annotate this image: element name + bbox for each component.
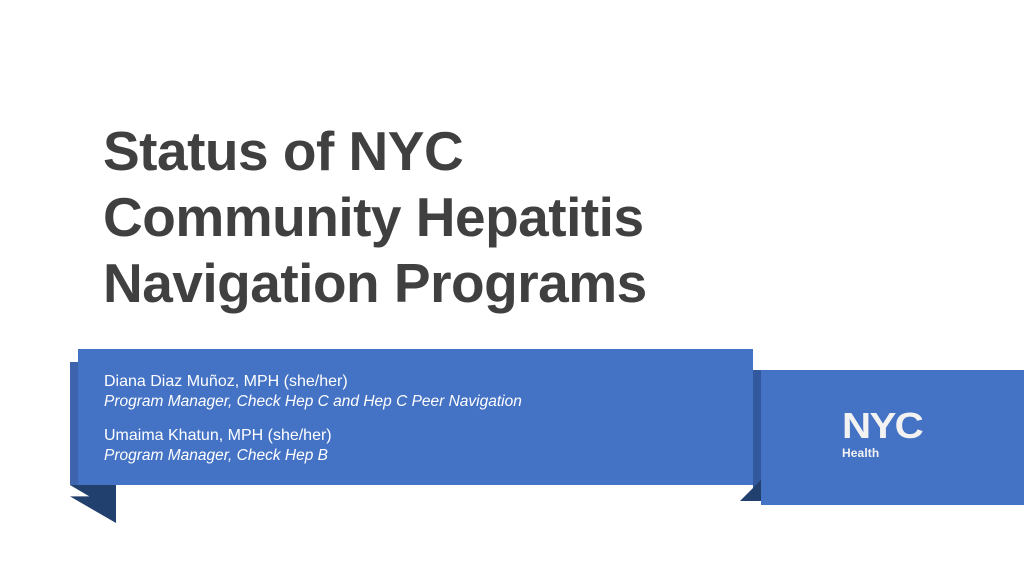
ribbon-tail-fold [70, 485, 116, 523]
presenter-name: Umaima Khatun, MPH (she/her) [104, 425, 724, 446]
nyc-health-logo-icon: NYC Health [842, 409, 962, 460]
presenter-name: Diana Diaz Muñoz, MPH (she/her) [104, 371, 724, 392]
page-title: Status of NYC Community Hepatitis Naviga… [103, 118, 743, 316]
presenter-role: Program Manager, Check Hep B [104, 446, 724, 466]
title-line-1: Status of NYC [103, 118, 743, 184]
title-line-2: Community Hepatitis [103, 184, 743, 250]
presenter-item: Umaima Khatun, MPH (she/her) Program Man… [104, 425, 724, 466]
title-line-3: Navigation Programs [103, 250, 743, 316]
logo-panel: NYC Health [761, 370, 1024, 505]
logo-mark-text: NYC [842, 409, 976, 443]
presenter-role: Program Manager, Check Hep C and Hep C P… [104, 392, 724, 412]
presenter-item: Diana Diaz Muñoz, MPH (she/her) Program … [104, 371, 724, 412]
presenter-list: Diana Diaz Muñoz, MPH (she/her) Program … [104, 371, 724, 466]
presentation-slide: Status of NYC Community Hepatitis Naviga… [0, 0, 1024, 576]
logo-sub-text: Health [842, 446, 962, 460]
